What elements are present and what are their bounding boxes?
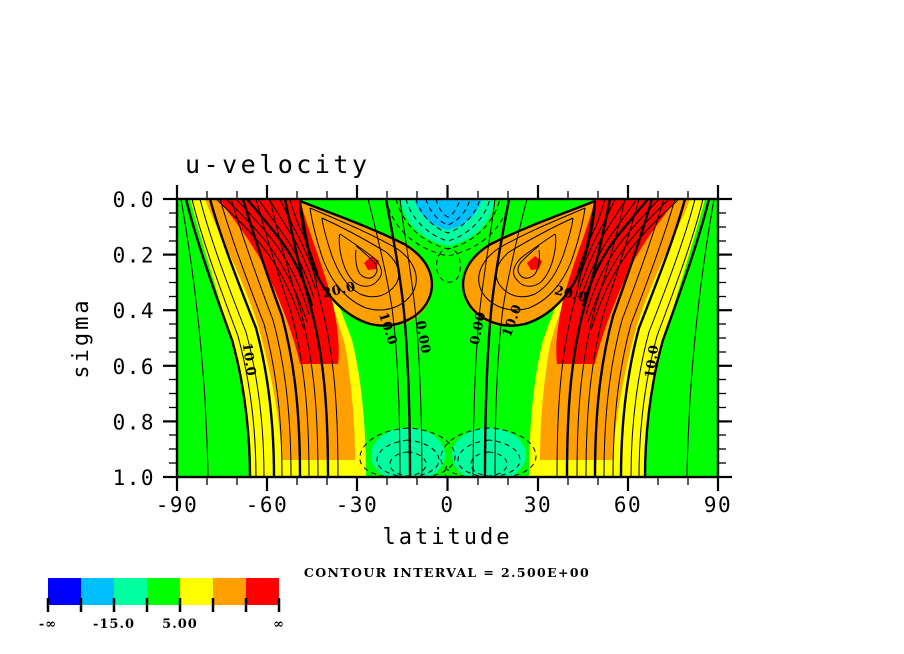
contour-interval-note: CONTOUR INTERVAL = 2.500E+00	[304, 565, 590, 580]
colorbar-segment-5[interactable]	[213, 578, 246, 605]
band-springgreen-surface-north	[452, 428, 526, 482]
x-tick-label: 0	[440, 493, 454, 517]
colorbar-label-max: ∞	[273, 617, 285, 632]
y-tick-label: 0.4	[113, 299, 155, 323]
colorbar-segment-4[interactable]	[180, 578, 213, 605]
contour-plot-figure: u-velocity	[0, 0, 904, 654]
y-tick-label: 0.0	[113, 188, 155, 212]
colorbar-label-min: -∞	[39, 617, 57, 632]
colorbar-segment-0[interactable]	[48, 578, 81, 605]
colorbar-segment-1[interactable]	[81, 578, 114, 605]
contour-field	[177, 199, 718, 482]
y-tick-label: 1.0	[113, 466, 155, 490]
x-tick-label: 60	[614, 493, 642, 517]
y-tick-label: 0.6	[113, 355, 155, 379]
y-axis-title: sigma	[69, 297, 94, 378]
colorbar-label-low: -15.0	[93, 617, 135, 632]
page-title: u-velocity	[185, 150, 371, 179]
x-tick-label: 90	[704, 493, 732, 517]
y-tick-label: 0.2	[113, 244, 155, 268]
y-tick-label: 0.8	[113, 410, 155, 434]
x-tick-label: -60	[246, 493, 288, 517]
x-tick-label: -90	[156, 493, 198, 517]
colorbar-segment-2[interactable]	[114, 578, 147, 605]
band-springgreen-surface-south	[371, 428, 445, 482]
x-tick-label: -30	[336, 493, 378, 517]
x-axis-title: latitude	[383, 525, 513, 550]
x-tick-label: 30	[524, 493, 552, 517]
colorbar-label-high: 5.00	[162, 617, 198, 632]
figure-canvas: u-velocity	[0, 0, 904, 654]
colorbar-segment-6[interactable]	[246, 578, 279, 605]
colorbar-segment-3[interactable]	[147, 578, 180, 605]
